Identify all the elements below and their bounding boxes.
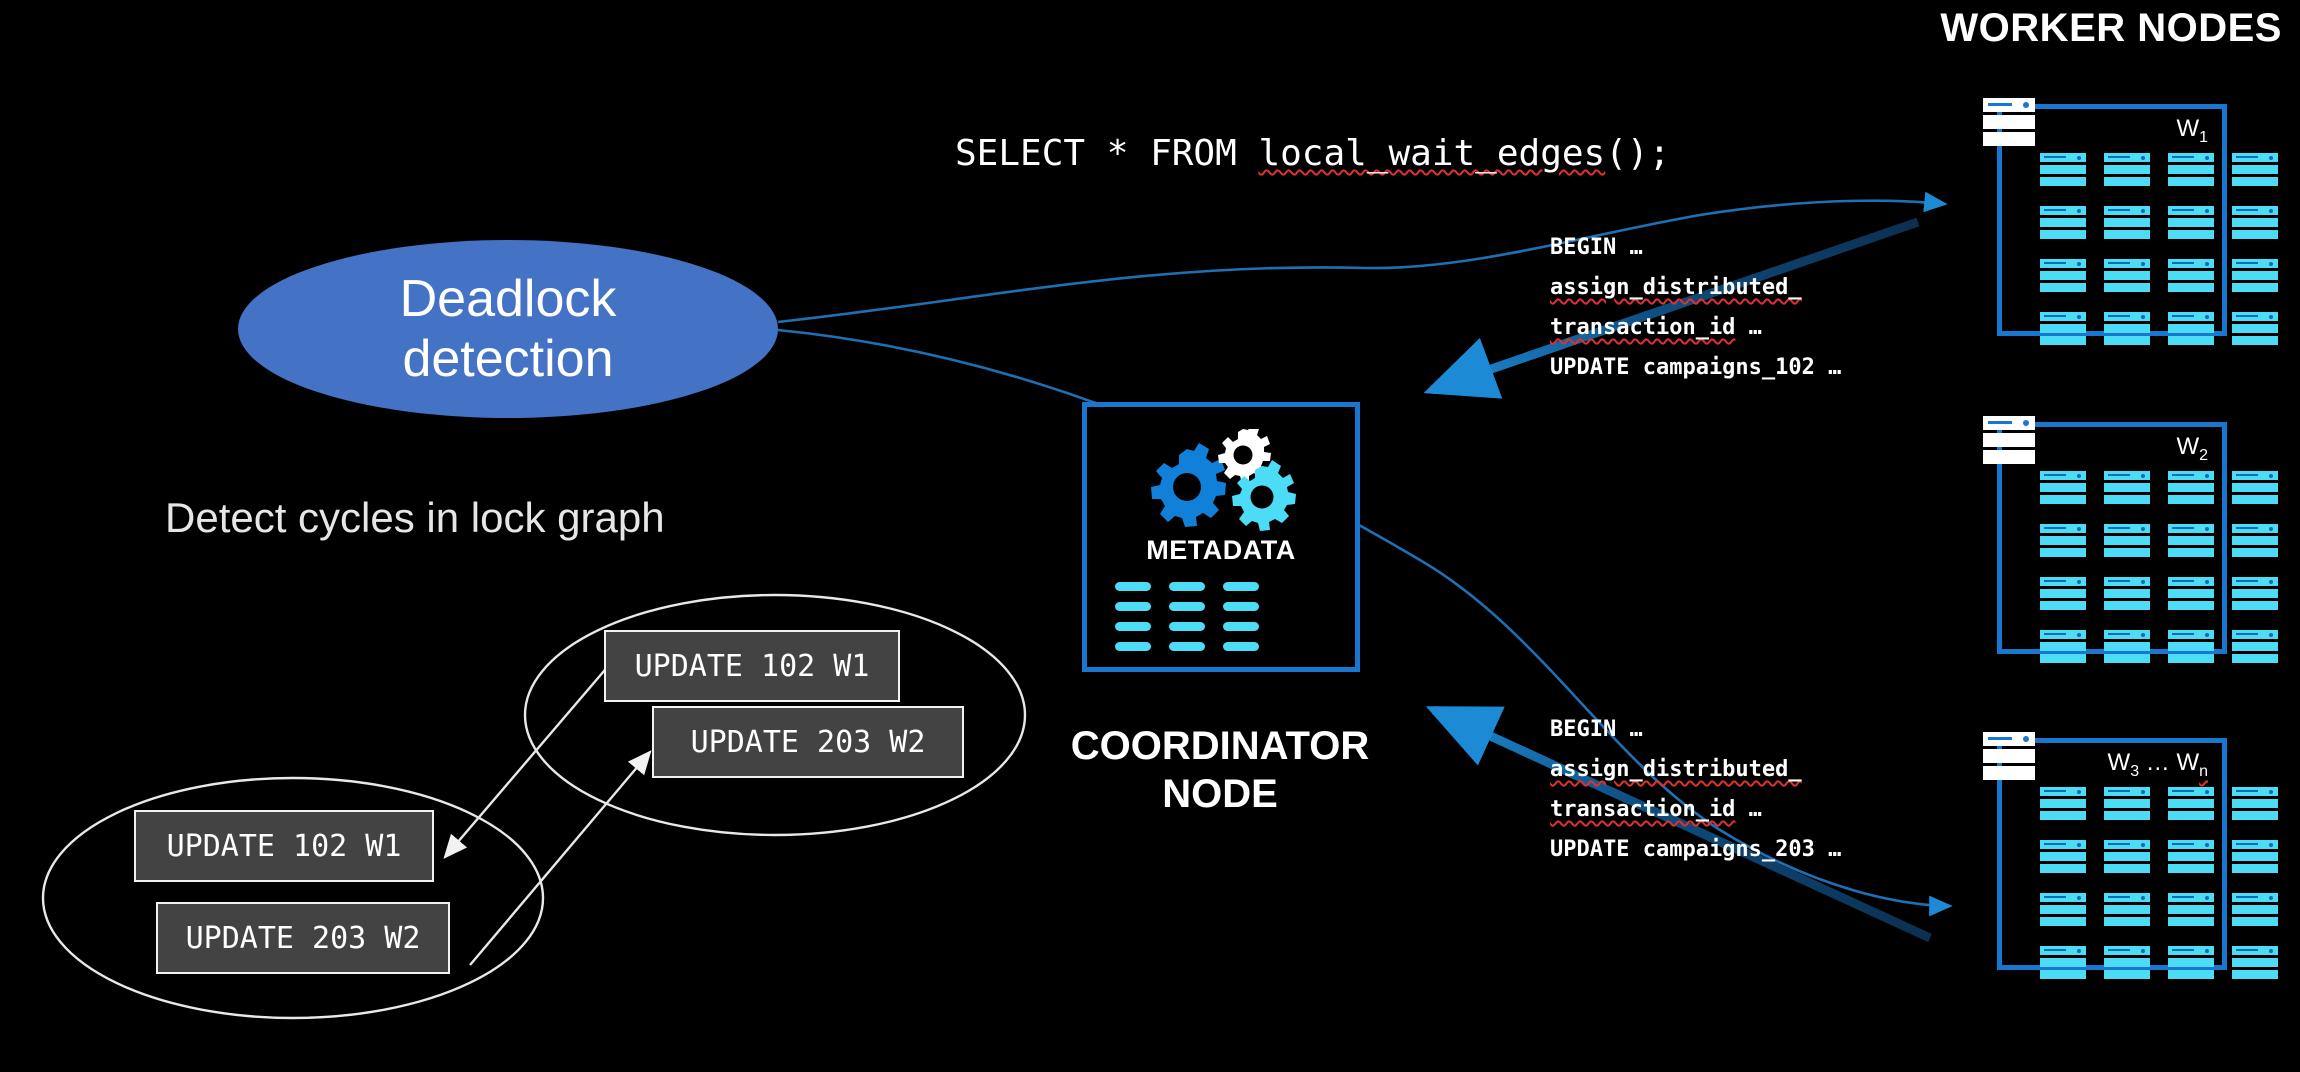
worker-label-subscript: 1 [2199,129,2208,146]
metadata-bar [1223,642,1259,651]
worker-3-label: W3 … Wn [2108,749,2208,781]
metadata-bar [1169,582,1205,591]
worker-label-subscript: 2 [2199,447,2208,464]
server-icon [2104,153,2150,189]
code-line: UPDATE campaigns_102 … [1550,348,1841,388]
sql-suffix: (); [1605,133,1670,174]
deadlock-detection-label: Deadlock detection [400,269,617,389]
server-icon [2040,153,2086,189]
deadlock-detection-node[interactable]: Deadlock detection [238,240,778,418]
worker-label-separator: … [2139,749,2176,776]
server-icon [2040,840,2086,876]
server-icon [2168,206,2214,242]
server-icon [2232,630,2278,666]
metadata-bar [1223,622,1259,631]
server-icon [2232,524,2278,560]
code-line-text: assign_distributed_ [1550,757,1802,782]
metadata-bars [1115,582,1337,651]
metadata-bar [1169,642,1205,651]
code-line-text: transaction_id [1550,315,1735,340]
code-line: BEGIN … [1550,228,1841,268]
metadata-bar-row [1115,642,1337,651]
server-icon [2232,259,2278,295]
coordinator-metadata-card[interactable]: METADATA [1082,402,1360,672]
server-icon [2040,893,2086,929]
code-line: BEGIN … [1550,710,1841,750]
lock-node-label: UPDATE 102 W1 [635,649,870,684]
diagram-canvas: WORKER NODES COORDINATOR NODE Deadlock d… [0,0,2300,1072]
sql-prefix: SELECT * FROM [955,133,1258,174]
server-icon [2232,577,2278,613]
server-icon [2040,259,2086,295]
metadata-bar [1115,602,1151,611]
metadata-label: METADATA [1087,535,1355,566]
worker-1-label: W1 [2176,115,2208,147]
metadata-bar [1169,622,1205,631]
server-icon [2104,206,2150,242]
server-icon [2168,946,2214,982]
code-line-tail: … [1735,797,1762,822]
worker-label-base: W [2108,749,2131,776]
server-icon [2104,893,2150,929]
server-icon [2232,840,2278,876]
sql-function-name: local_wait_edges [1258,133,1605,174]
worker-label-base: W [2176,433,2199,460]
edge-worker3-to-coordinator-head [1434,710,1478,730]
server-icon [2040,787,2086,823]
code-line: transaction_id … [1550,790,1841,830]
coordinator-node-heading: COORDINATOR NODE [1040,722,1400,818]
server-icon [2040,471,2086,507]
worker-label-subscript-n: n [2199,763,2208,780]
server-icon [2232,471,2278,507]
code-line: transaction_id … [1550,308,1841,348]
server-icon [2104,577,2150,613]
server-icon [2232,787,2278,823]
worker-2-label: W2 [2176,433,2208,465]
server-icon [2040,630,2086,666]
code-line: assign_distributed_ [1550,750,1841,790]
worker-2-server-grid [2040,471,2278,666]
lock-node-lower-2[interactable]: UPDATE 203 W2 [156,902,450,974]
server-icon [2104,840,2150,876]
server-icon [2168,524,2214,560]
server-icon [2168,312,2214,348]
metadata-bar [1223,602,1259,611]
worker-1-server-badge-icon [1983,98,2035,149]
lock-node-upper-2[interactable]: UPDATE 203 W2 [652,706,964,778]
server-icon [2104,630,2150,666]
server-icon [2104,787,2150,823]
worker-label-subscript: 3 [2130,763,2139,780]
lock-node-label: UPDATE 203 W2 [186,921,421,956]
server-icon [2168,630,2214,666]
code-line-text: BEGIN … [1550,717,1643,742]
lock-node-label: UPDATE 102 W1 [167,829,402,864]
code-line-text: UPDATE campaigns_102 … [1550,355,1841,380]
coordinator-heading-line2: NODE [1040,770,1400,818]
metadata-bar [1115,582,1151,591]
lock-node-lower-1[interactable]: UPDATE 102 W1 [134,810,434,882]
server-icon [2104,524,2150,560]
deadlock-label-line2: detection [400,329,617,389]
metadata-bar [1223,582,1259,591]
gears-icon [1141,429,1311,534]
server-icon [2104,471,2150,507]
metadata-bar-row [1115,582,1337,591]
detect-cycles-caption: Detect cycles in lock graph [165,494,665,542]
lock-node-upper-1[interactable]: UPDATE 102 W1 [604,630,900,702]
gear-blue-icon [1151,443,1226,527]
code-line: assign_distributed_ [1550,268,1841,308]
server-icon [2232,312,2278,348]
worker-1-server-grid [2040,153,2278,348]
metadata-bar [1115,642,1151,651]
lock-node-label: UPDATE 203 W2 [691,725,926,760]
server-icon [2168,153,2214,189]
server-icon [2040,577,2086,613]
code-line-text: assign_distributed_ [1550,275,1802,300]
worker-3-server-badge-icon [1983,732,2035,783]
server-icon [2232,153,2278,189]
server-icon [2040,206,2086,242]
code-line-text: BEGIN … [1550,235,1643,260]
server-icon [2040,312,2086,348]
sql-statement: SELECT * FROM local_wait_edges(); [955,133,1670,174]
server-icon [2168,893,2214,929]
worker-2-server-badge-icon [1983,416,2035,467]
server-icon [2168,577,2214,613]
server-icon [2168,840,2214,876]
server-icon [2232,206,2278,242]
code-block-worker3: BEGIN … assign_distributed_ transaction_… [1550,710,1841,870]
edge-wait-lower-to-upper [470,752,650,965]
worker-3-server-grid [2040,787,2278,982]
worker-label-base: W [2176,115,2199,142]
code-line-text: UPDATE campaigns_203 … [1550,837,1841,862]
server-icon [2232,946,2278,982]
server-icon [2168,259,2214,295]
server-icon [2040,524,2086,560]
metadata-bar [1169,602,1205,611]
code-block-worker1: BEGIN … assign_distributed_ transaction_… [1550,228,1841,388]
deadlock-label-line1: Deadlock [400,269,617,329]
server-icon [2104,312,2150,348]
code-line: UPDATE campaigns_203 … [1550,830,1841,870]
coordinator-heading-line1: COORDINATOR [1040,722,1400,770]
code-line-text: transaction_id [1550,797,1735,822]
metadata-bar-row [1115,602,1337,611]
worker-nodes-heading: WORKER NODES [1940,6,2282,51]
server-icon [2168,787,2214,823]
metadata-bar [1115,622,1151,631]
server-icon [2168,471,2214,507]
server-icon [2232,893,2278,929]
server-icon [2040,946,2086,982]
worker-label-base-n: W [2176,749,2199,776]
metadata-bar-row [1115,622,1337,631]
server-icon [2104,259,2150,295]
server-icon [2104,946,2150,982]
code-line-tail: … [1735,315,1762,340]
